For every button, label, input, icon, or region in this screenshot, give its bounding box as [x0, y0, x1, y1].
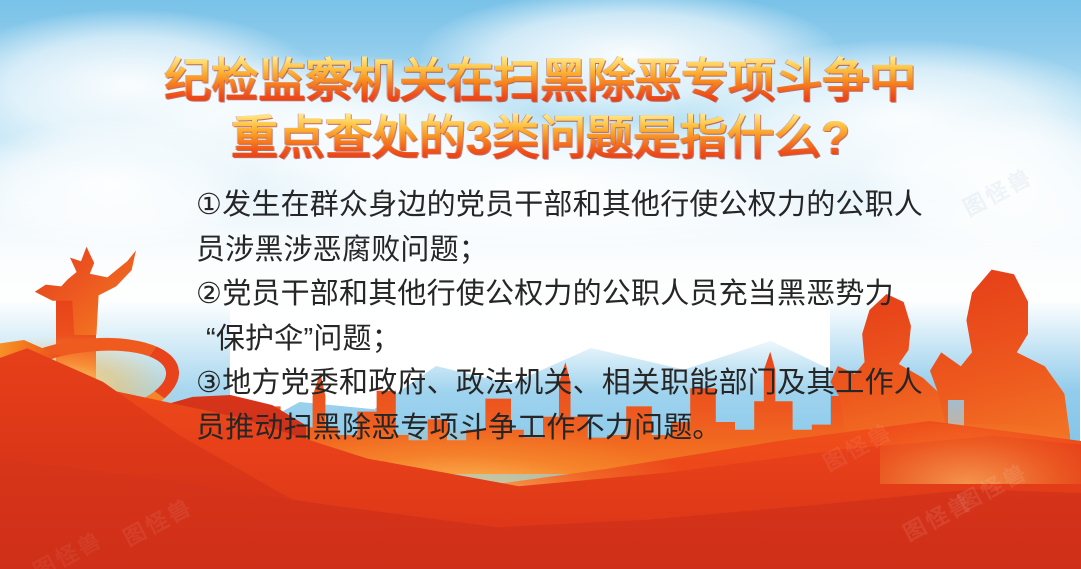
body-line-3: ②党员干部和其他行使公权力的公职人员充当黑恶势力 — [196, 272, 926, 317]
body-line-4: “保护伞”问题； — [196, 317, 926, 362]
body-line-5: ③地方党委和政府、政法机关、相关职能部门及其工作人 — [196, 361, 926, 406]
poster-title: 纪检监察机关在扫黑除恶专项斗争中 重点查处的3类问题是指什么? — [0, 52, 1081, 166]
body-line-6: 员推动扫黑除恶专项斗争工作不力问题。 — [196, 406, 926, 451]
body-line-2: 员涉黑涉恶腐败问题； — [196, 228, 926, 273]
title-line-2: 重点查处的3类问题是指什么? — [0, 109, 1081, 166]
body-line-1: ①发生在群众身边的党员干部和其他行使公权力的公职人 — [196, 183, 926, 228]
poster-body: ①发生在群众身边的党员干部和其他行使公权力的公职人 员涉黑涉恶腐败问题； ②党员… — [196, 183, 926, 450]
poster-canvas: 图怪兽 图怪兽 图怪兽 图怪兽 图怪兽 图怪兽 纪检监察机关在扫黑除恶专项斗争中… — [0, 0, 1081, 569]
title-line-1: 纪检监察机关在扫黑除恶专项斗争中 — [0, 52, 1081, 109]
